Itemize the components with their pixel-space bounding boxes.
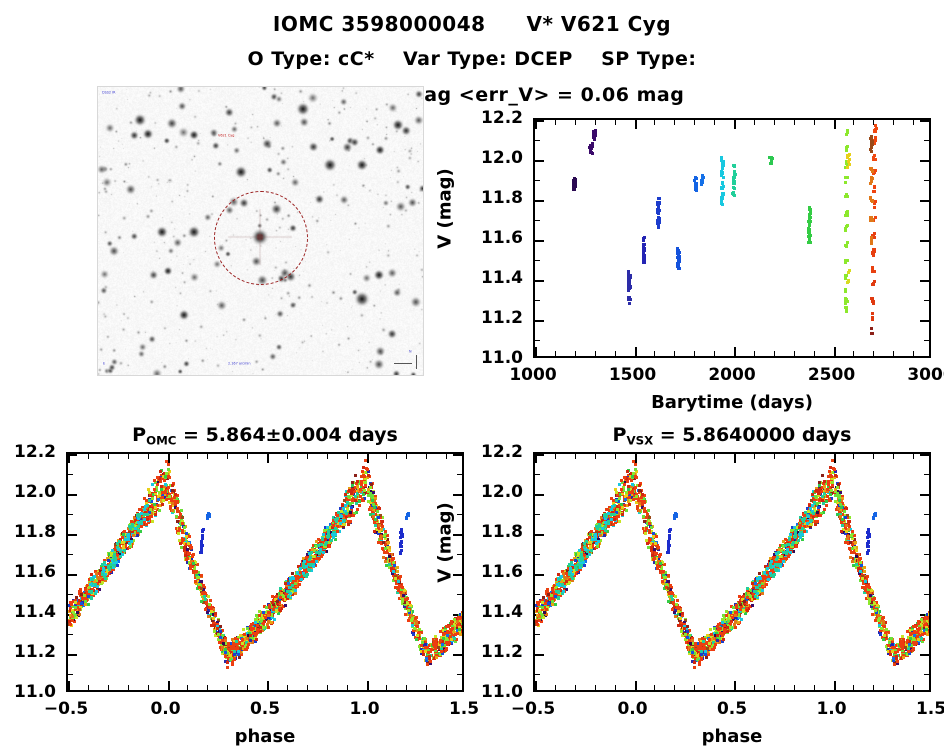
data-point [350, 506, 353, 509]
data-point [848, 158, 851, 161]
data-point [154, 506, 157, 509]
data-point [929, 609, 931, 612]
data-point [284, 582, 287, 585]
data-point [210, 610, 213, 613]
data-point [871, 283, 874, 286]
data-point [870, 176, 873, 179]
lightcurve-plot-area[interactable] [533, 118, 931, 358]
data-point [364, 484, 367, 487]
data-point [167, 475, 170, 478]
data-point [872, 190, 875, 193]
data-point [70, 603, 73, 606]
data-point [384, 530, 387, 533]
data-point [574, 185, 577, 188]
data-point [153, 479, 156, 482]
data-point [871, 270, 874, 273]
data-point [95, 590, 98, 593]
data-point [844, 227, 847, 230]
data-point [294, 589, 297, 592]
data-point [282, 595, 285, 598]
data-point [871, 140, 874, 143]
data-point [382, 541, 385, 544]
data-point [90, 597, 93, 600]
data-point [182, 538, 185, 541]
data-point [259, 626, 262, 629]
data-point [384, 547, 387, 550]
data-point [809, 220, 812, 223]
page-title: IOMC 3598000048 V* V621 Cyg [0, 12, 944, 36]
data-point [416, 634, 419, 637]
data-point [267, 614, 270, 617]
data-point [721, 192, 724, 195]
data-point [657, 197, 660, 200]
data-point [146, 518, 149, 521]
data-point [167, 463, 170, 466]
data-point [413, 627, 416, 630]
data-point [237, 653, 240, 656]
data-point [663, 563, 666, 566]
data-point [620, 479, 623, 482]
data-point [284, 604, 287, 607]
data-point [71, 615, 74, 618]
data-point [844, 290, 847, 293]
data-point [187, 542, 190, 545]
scale-label: 2.167 arcmin [228, 361, 251, 365]
data-point [709, 628, 712, 631]
data-point [423, 637, 426, 640]
data-point [319, 548, 322, 551]
data-point [392, 570, 395, 573]
data-point [400, 545, 403, 548]
data-point [198, 583, 201, 586]
data-point [412, 633, 415, 636]
data-point [298, 583, 301, 586]
data-point [429, 660, 432, 663]
data-point [420, 644, 423, 647]
period-value-text: = 5.864±0.004 days [183, 424, 398, 446]
data-point [463, 619, 464, 622]
data-point [303, 560, 306, 563]
data-point [84, 600, 87, 603]
data-point [383, 534, 386, 537]
data-point [249, 639, 252, 642]
data-point [121, 553, 124, 556]
data-point [330, 539, 333, 542]
data-point [181, 516, 184, 519]
data-point [241, 638, 244, 641]
data-point [151, 483, 154, 486]
data-point [237, 650, 240, 653]
data-point [846, 145, 849, 148]
data-point [271, 601, 274, 604]
data-point [308, 569, 311, 572]
data-point [869, 182, 872, 185]
data-point [256, 620, 259, 623]
data-point [430, 648, 433, 651]
data-point [178, 539, 181, 542]
data-point [870, 167, 873, 170]
data-point [366, 468, 369, 471]
data-point [101, 563, 104, 566]
data-point [335, 520, 338, 523]
data-point [643, 260, 646, 263]
data-point [77, 602, 80, 605]
data-point [233, 653, 236, 656]
data-point [305, 565, 308, 568]
data-point [207, 515, 210, 518]
data-point [327, 530, 330, 533]
data-point [463, 623, 464, 626]
data-point [176, 507, 179, 510]
data-point [159, 470, 162, 473]
period-value-text: = 5.8640000 days [660, 424, 852, 446]
data-point [871, 252, 874, 255]
data-point [367, 500, 370, 503]
data-point [732, 164, 735, 167]
data-point [463, 626, 464, 629]
data-point [627, 283, 630, 286]
data-point [360, 475, 363, 478]
data-point [769, 162, 772, 165]
data-point [846, 166, 849, 169]
data-point [722, 162, 725, 165]
phase-vsx-plot-area[interactable] [533, 452, 931, 692]
phase-omc-plot-area[interactable] [66, 452, 464, 692]
data-point [201, 537, 204, 540]
data-point [677, 267, 680, 270]
data-point [164, 483, 167, 486]
data-point [331, 533, 334, 536]
data-point [400, 530, 403, 533]
data-point [98, 580, 101, 583]
data-point [572, 188, 575, 191]
data-point [308, 558, 311, 561]
data-point [463, 611, 464, 614]
orientation-e-label: E [103, 361, 105, 365]
data-point [426, 663, 429, 666]
data-point [69, 623, 72, 626]
data-point [268, 606, 271, 609]
data-point [75, 596, 78, 599]
data-point [628, 302, 631, 305]
data-point [158, 509, 161, 512]
data-point [658, 201, 661, 204]
data-point [390, 567, 393, 570]
data-point [214, 612, 217, 615]
p-subscript: VSX [626, 433, 653, 447]
data-point [164, 490, 167, 493]
data-point [361, 470, 364, 473]
data-point [209, 599, 212, 602]
data-point [230, 647, 233, 650]
data-point [677, 260, 680, 263]
data-point [197, 576, 200, 579]
data-point [137, 529, 140, 532]
data-point [844, 302, 847, 305]
data-point [201, 592, 204, 595]
data-point [356, 485, 359, 488]
data-point [226, 661, 229, 664]
data-point [115, 561, 118, 564]
data-point [396, 566, 399, 569]
data-point [422, 653, 425, 656]
data-point [127, 533, 130, 536]
data-point [381, 520, 384, 523]
data-point [676, 599, 679, 602]
data-point [870, 150, 873, 153]
data-point [84, 603, 87, 606]
data-point [367, 474, 370, 477]
data-point [200, 547, 203, 550]
data-point [410, 614, 413, 617]
data-point [196, 563, 199, 566]
data-point [178, 527, 181, 530]
data-point [187, 552, 190, 555]
data-point [462, 628, 464, 631]
data-point [364, 459, 367, 462]
data-point [874, 158, 877, 161]
phase-omc-x-axis-label: phase [66, 726, 464, 747]
data-point [262, 622, 265, 625]
object-type-line: O Type: cC* Var Type: DCEP SP Type: [0, 48, 944, 70]
data-point [351, 499, 354, 502]
data-point [871, 312, 874, 315]
data-point [254, 634, 257, 637]
data-point [315, 540, 318, 543]
data-point [809, 234, 812, 237]
data-point [287, 595, 290, 598]
phase-vsx-panel: PVSX = 5.8640000 days V (mag) phase [533, 452, 931, 692]
data-point [721, 181, 724, 184]
data-point [332, 524, 335, 527]
data-point [825, 504, 828, 507]
data-point [117, 548, 120, 551]
data-point [349, 511, 352, 514]
data-point [151, 520, 154, 523]
lightcurve-y-axis-label: V (mag) [435, 149, 456, 329]
data-point [462, 609, 464, 612]
data-point [203, 595, 206, 598]
p-subscript: OMC [146, 433, 176, 447]
data-point [676, 256, 679, 259]
data-point [68, 620, 71, 623]
orientation-n-label: N [409, 349, 412, 353]
data-point [348, 489, 351, 492]
data-point [381, 525, 384, 528]
data-point [322, 533, 325, 536]
data-point [361, 498, 364, 501]
data-point [183, 526, 186, 529]
data-point [373, 506, 376, 509]
data-point [158, 494, 161, 497]
data-point [676, 247, 679, 250]
data-point [844, 181, 847, 184]
data-point [461, 619, 464, 622]
data-point [870, 332, 873, 335]
data-point [462, 610, 464, 613]
data-point [642, 251, 645, 254]
data-point [334, 533, 337, 536]
data-point [351, 488, 354, 491]
data-point [397, 580, 400, 583]
object-name: V* V621 Cyg [526, 12, 671, 36]
data-point [165, 498, 168, 501]
data-point [310, 551, 313, 554]
data-point [347, 520, 350, 523]
phase-omc-panel: POMC = 5.864±0.004 days V (mag) phase [66, 452, 464, 692]
data-point [378, 524, 381, 527]
scale-bar [394, 363, 412, 364]
data-point [846, 129, 849, 132]
data-point [122, 541, 125, 544]
data-point [350, 492, 353, 495]
data-point [245, 648, 248, 651]
data-point [702, 176, 705, 179]
data-point [219, 630, 222, 633]
data-point [192, 562, 195, 565]
data-point [273, 618, 276, 621]
data-point [234, 637, 237, 640]
data-point [415, 622, 418, 625]
lightcurve-panel: V (mag) Barytime (days) [533, 118, 931, 358]
data-point [399, 552, 402, 555]
data-point [339, 522, 342, 525]
data-point [657, 225, 660, 228]
data-point [208, 603, 211, 606]
data-point [618, 483, 621, 486]
data-point [113, 553, 116, 556]
data-point [844, 297, 847, 300]
data-point [873, 206, 876, 209]
data-point [358, 504, 361, 507]
data-point [377, 526, 380, 529]
data-point [186, 548, 189, 551]
data-point [200, 600, 203, 603]
data-point [318, 557, 321, 560]
data-point [351, 481, 354, 484]
data-point [113, 556, 116, 559]
data-point [239, 634, 242, 637]
data-point [462, 624, 464, 627]
phase-vsx-title: PVSX = 5.8640000 days [533, 424, 931, 447]
data-point [424, 643, 427, 646]
lightcurve-x-axis-label: Barytime (days) [533, 392, 931, 413]
data-point [870, 137, 873, 140]
data-point [721, 203, 724, 206]
object-label: V621 Cyg [218, 133, 234, 137]
data-point [175, 515, 178, 518]
data-point [874, 169, 877, 172]
data-point [231, 660, 234, 663]
data-point [303, 574, 306, 577]
data-point [328, 541, 331, 544]
data-point [388, 549, 391, 552]
data-point [164, 475, 167, 478]
data-point [239, 647, 242, 650]
data-point [156, 476, 159, 479]
data-point [123, 549, 126, 552]
phase-omc-title: POMC = 5.864±0.004 days [66, 424, 464, 447]
data-point [722, 176, 725, 179]
data-point [174, 493, 177, 496]
data-point [847, 271, 850, 274]
data-point [352, 514, 355, 517]
data-point [149, 493, 152, 496]
data-point [171, 489, 174, 492]
data-point [383, 551, 386, 554]
data-point [154, 513, 157, 516]
data-point [343, 519, 346, 522]
data-point [629, 298, 632, 301]
data-point [406, 513, 409, 516]
data-point [363, 475, 366, 478]
data-point [376, 510, 379, 513]
data-point [200, 550, 203, 553]
data-point [722, 185, 725, 188]
data-point [321, 538, 324, 541]
data-point [733, 187, 736, 190]
data-point [401, 600, 404, 603]
data-point [185, 535, 188, 538]
data-point [267, 620, 270, 623]
data-point [255, 638, 258, 641]
data-point [108, 568, 111, 571]
data-point [929, 624, 931, 627]
data-point [406, 602, 409, 605]
data-point [168, 495, 171, 498]
data-point [143, 497, 146, 500]
data-point [90, 590, 93, 593]
data-point [870, 237, 873, 240]
data-point [354, 474, 357, 477]
data-point [872, 301, 875, 304]
data-point [698, 663, 701, 666]
data-point [190, 546, 193, 549]
data-point [589, 146, 592, 149]
data-point [232, 642, 235, 645]
data-point [122, 533, 125, 536]
data-point [191, 555, 194, 558]
data-point [369, 486, 372, 489]
p-symbol: P [613, 424, 627, 446]
data-point [340, 515, 343, 518]
data-point [603, 534, 606, 537]
data-point [242, 628, 245, 631]
data-point [181, 531, 184, 534]
data-point [94, 583, 97, 586]
data-point [844, 176, 847, 179]
data-point [181, 522, 184, 525]
data-point [642, 239, 645, 242]
data-point [733, 176, 736, 179]
data-point [153, 488, 156, 491]
data-point [347, 495, 350, 498]
data-point [229, 654, 232, 657]
data-point [200, 587, 203, 590]
p-symbol: P [132, 424, 146, 446]
data-point [845, 310, 848, 313]
data-point [326, 526, 329, 529]
data-point [658, 221, 661, 224]
data-point [463, 617, 464, 620]
data-point [373, 530, 376, 533]
data-point [627, 271, 630, 274]
catalog-id: IOMC 3598000048 [273, 12, 486, 36]
data-point [84, 588, 87, 591]
finder-chart: DSS2 IR V621 Cyg 2.167 arcmin E N [97, 86, 424, 376]
var-type-value: DCEP [514, 48, 573, 70]
data-point [312, 565, 315, 568]
